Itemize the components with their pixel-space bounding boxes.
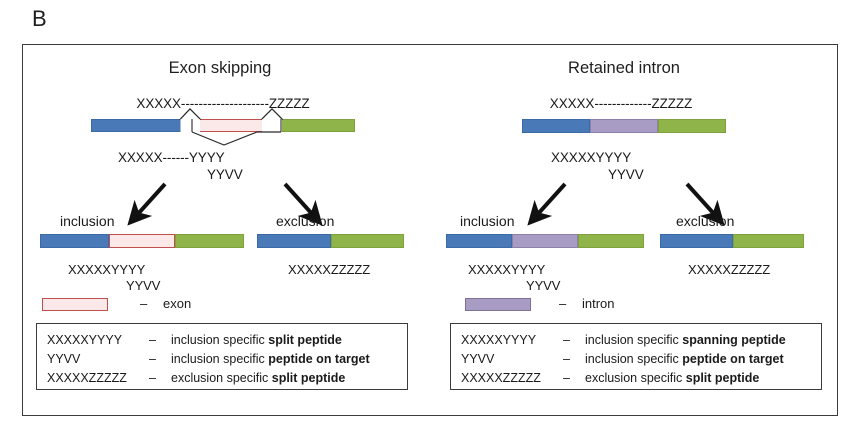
right-inclusion-retained-intron-purple (512, 234, 578, 248)
right-exclusion-sequence: XXXXXZZZZZ (688, 262, 770, 277)
right-inclusion-sequence-2: YYVV (526, 278, 560, 293)
right-exclusion-exon-green (733, 234, 804, 248)
right-description-box: XXXXXYYYY – inclusion specific spanning … (450, 323, 822, 390)
left-desc-code-2: XXXXXZZZZZ (47, 371, 127, 385)
left-exclusion-exon-blue (257, 234, 331, 248)
right-exclusion-label: exclusion (676, 214, 734, 229)
right-desc-dash-0: – (563, 333, 570, 347)
right-desc-text-plain-0: inclusion specific (585, 333, 682, 347)
left-premrna-cassette-exon-pink (192, 119, 270, 132)
left-desc-dash-1: – (149, 352, 156, 366)
right-inclusion-exon-green (578, 234, 644, 248)
right-desc-text-bold-2: split peptide (686, 371, 760, 385)
intron-legend-label: intron (582, 296, 615, 311)
right-desc-code-2: XXXXXZZZZZ (461, 371, 541, 385)
left-desc-text-bold-2: split peptide (272, 371, 346, 385)
left-bottom-sequence-1: XXXXX------YYYY (118, 150, 225, 165)
intron-legend-dash: – (559, 296, 566, 311)
right-desc-dash-2: – (563, 371, 570, 385)
left-desc-text-0: inclusion specific split peptide (171, 333, 342, 347)
left-inclusion-exon-blue (40, 234, 109, 248)
left-exclusion-exon-green (331, 234, 404, 248)
left-inclusion-sequence-1: XXXXXYYYY (68, 262, 145, 277)
left-top-sequence: XXXXX--------------------ZZZZZ (136, 96, 309, 111)
left-desc-text-bold-1: peptide on target (268, 352, 369, 366)
left-desc-code-0: XXXXXYYYY (47, 333, 122, 347)
left-exclusion-label: exclusion (276, 214, 334, 229)
left-desc-text-plain-2: exclusion specific (171, 371, 272, 385)
left-panel-title: Exon skipping (169, 59, 272, 77)
left-inclusion-sequence-2: YYVV (126, 278, 160, 293)
right-inclusion-sequence-1: XXXXXYYYY (468, 262, 545, 277)
left-premrna-upstream-exon-blue (91, 119, 192, 132)
right-desc-dash-1: – (563, 352, 570, 366)
left-desc-dash-0: – (149, 333, 156, 347)
left-desc-text-plain-0: inclusion specific (171, 333, 268, 347)
right-premrna-downstream-exon-green (658, 119, 726, 133)
right-panel-title: Retained intron (568, 59, 680, 77)
left-bottom-sequence-2: YYVV (207, 167, 243, 182)
right-premrna-upstream-exon-blue (522, 119, 590, 133)
left-inclusion-exon-green (175, 234, 244, 248)
left-inclusion-label: inclusion (60, 214, 114, 229)
right-desc-text-1: inclusion specific peptide on target (585, 352, 784, 366)
right-exclusion-exon-blue (660, 234, 733, 248)
left-exclusion-sequence: XXXXXZZZZZ (288, 262, 370, 277)
left-desc-text-1: inclusion specific peptide on target (171, 352, 370, 366)
right-desc-text-2: exclusion specific split peptide (585, 371, 759, 385)
right-inclusion-exon-blue (446, 234, 512, 248)
left-inclusion-cassette-exon-pink (109, 234, 175, 248)
left-desc-dash-2: – (149, 371, 156, 385)
right-bottom-sequence-1: XXXXXYYYY (551, 150, 631, 165)
right-desc-text-plain-1: inclusion specific (585, 352, 682, 366)
left-desc-text-2: exclusion specific split peptide (171, 371, 345, 385)
panel-letter: B (32, 8, 47, 30)
right-desc-code-1: YYVV (461, 352, 494, 366)
right-desc-code-0: XXXXXYYYY (461, 333, 536, 347)
right-desc-text-bold-0: spanning peptide (682, 333, 785, 347)
right-bottom-sequence-2: YYVV (608, 167, 644, 182)
right-inclusion-label: inclusion (460, 214, 514, 229)
right-top-sequence: XXXXX-------------ZZZZZ (550, 96, 692, 111)
right-desc-text-0: inclusion specific spanning peptide (585, 333, 786, 347)
left-desc-text-bold-0: split peptide (268, 333, 342, 347)
right-premrna-retained-intron-purple (590, 119, 658, 133)
exon-legend-dash: – (140, 296, 147, 311)
right-desc-text-bold-1: peptide on target (682, 352, 783, 366)
left-description-box: XXXXXYYYY – inclusion specific split pep… (36, 323, 408, 390)
exon-swatch (42, 298, 108, 311)
exon-legend-label: exon (163, 296, 191, 311)
intron-swatch (465, 298, 531, 311)
left-premrna-downstream-exon-green (281, 119, 355, 132)
left-desc-text-plain-1: inclusion specific (171, 352, 268, 366)
left-desc-code-1: YYVV (47, 352, 80, 366)
figure-panel-b: B Exon skipping XXXXX-------------------… (0, 0, 857, 439)
right-desc-text-plain-2: exclusion specific (585, 371, 686, 385)
